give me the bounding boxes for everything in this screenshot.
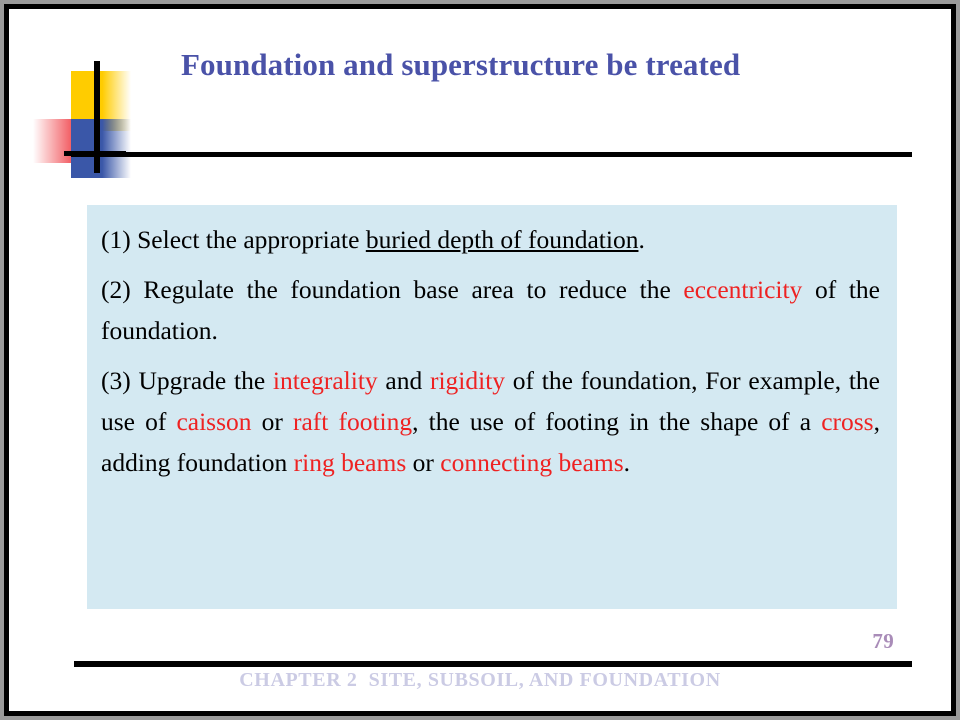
list-item-number: (2) xyxy=(101,275,131,304)
body-text: and xyxy=(378,366,430,395)
underlined-term: buried depth of foundation xyxy=(366,225,639,254)
list-item-number: (1) xyxy=(101,225,131,254)
slide-frame: Foundation and superstructure be treated… xyxy=(0,0,960,720)
list-item-number: (3) xyxy=(101,366,131,395)
highlighted-term: eccentricity xyxy=(683,275,802,304)
content-box: (1) Select the appropriate buried depth … xyxy=(87,205,897,609)
slide-title: Foundation and superstructure be treated xyxy=(181,43,881,87)
page-number: 79 xyxy=(872,629,894,654)
list-item: (1) Select the appropriate buried depth … xyxy=(101,219,880,260)
highlighted-term: connecting beams xyxy=(440,448,623,477)
body-text: Regulate the foundation base area to red… xyxy=(131,275,684,304)
body-text: Upgrade the xyxy=(131,366,273,395)
slide-canvas: Foundation and superstructure be treated… xyxy=(9,9,951,711)
highlighted-term: integrality xyxy=(273,366,378,395)
list-item: (3) Upgrade the integrality and rigidity… xyxy=(101,360,880,483)
highlighted-term: raft footing xyxy=(293,407,412,436)
body-text: or xyxy=(406,448,440,477)
body-text: , the use of footing in the shape of a xyxy=(412,407,821,436)
slide-border: Foundation and superstructure be treated… xyxy=(4,4,956,716)
footer-chapter-label: CHAPTER 2 SITE, SUBSOIL, AND FOUNDATION xyxy=(9,669,951,692)
highlighted-term: cross xyxy=(821,407,873,436)
highlighted-term: ring beams xyxy=(294,448,407,477)
body-text: . xyxy=(638,225,644,254)
list-item: (2) Regulate the foundation base area to… xyxy=(101,269,880,351)
highlighted-term: caisson xyxy=(176,407,251,436)
title-divider xyxy=(71,152,912,157)
highlighted-term: rigidity xyxy=(430,366,505,395)
logo-blue-square-icon xyxy=(71,119,131,178)
body-text: Select the appropriate xyxy=(131,225,366,254)
footer-divider xyxy=(74,661,912,667)
body-text: or xyxy=(252,407,293,436)
body-text: . xyxy=(624,448,630,477)
